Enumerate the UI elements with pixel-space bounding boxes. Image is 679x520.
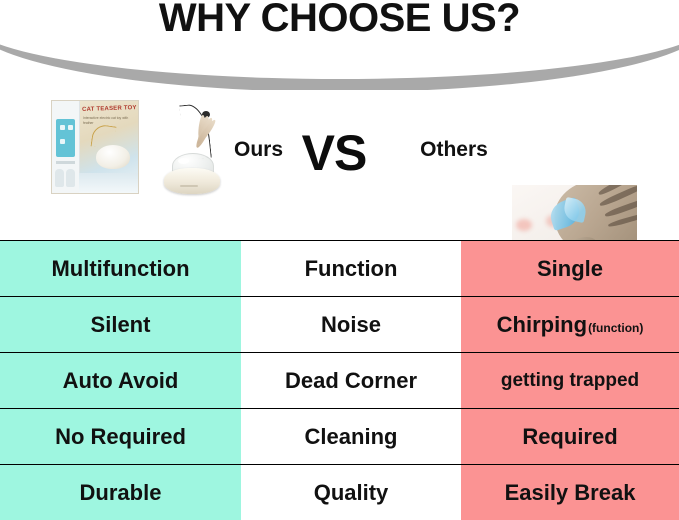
cell-feature: Function bbox=[241, 241, 461, 296]
table-row: Auto Avoid Dead Corner getting trapped bbox=[0, 352, 679, 408]
cell-others: Single bbox=[461, 241, 679, 296]
comparison-infographic: WHY CHOOSE US? CAT TEASER TOY Interactiv… bbox=[0, 0, 679, 520]
cell-others: getting trapped bbox=[461, 353, 679, 408]
cell-others-main: Chirping bbox=[497, 312, 587, 338]
comparison-table: Multifunction Function Single Silent Noi… bbox=[0, 240, 679, 520]
cell-ours: Durable bbox=[0, 465, 241, 520]
others-label: Others bbox=[408, 138, 500, 162]
cell-others: Chirping(function) bbox=[461, 297, 679, 352]
cell-ours: Multifunction bbox=[0, 241, 241, 296]
ours-product-group: CAT TEASER TOY Interactive electric cat … bbox=[38, 88, 268, 223]
cell-feature: Noise bbox=[241, 297, 461, 352]
cell-ours: Silent bbox=[0, 297, 241, 352]
cat-teaser-toy-image bbox=[142, 98, 234, 208]
cell-feature: Cleaning bbox=[241, 409, 461, 464]
table-row: No Required Cleaning Required bbox=[0, 408, 679, 464]
table-row: Durable Quality Easily Break bbox=[0, 464, 679, 520]
package-subtitle: Interactive electric cat toy with feathe… bbox=[83, 116, 129, 125]
cell-ours: Auto Avoid bbox=[0, 353, 241, 408]
cell-others: Required bbox=[461, 409, 679, 464]
cell-others-note: (function) bbox=[588, 321, 643, 335]
table-row: Multifunction Function Single bbox=[0, 240, 679, 296]
title-underline-arc bbox=[0, 30, 679, 90]
cell-others: Easily Break bbox=[461, 465, 679, 520]
cell-ours: No Required bbox=[0, 409, 241, 464]
table-row: Silent Noise Chirping(function) bbox=[0, 296, 679, 352]
cell-feature: Dead Corner bbox=[241, 353, 461, 408]
vs-label: VS bbox=[277, 128, 391, 178]
product-package-image: CAT TEASER TOY Interactive electric cat … bbox=[52, 101, 138, 193]
cell-feature: Quality bbox=[241, 465, 461, 520]
